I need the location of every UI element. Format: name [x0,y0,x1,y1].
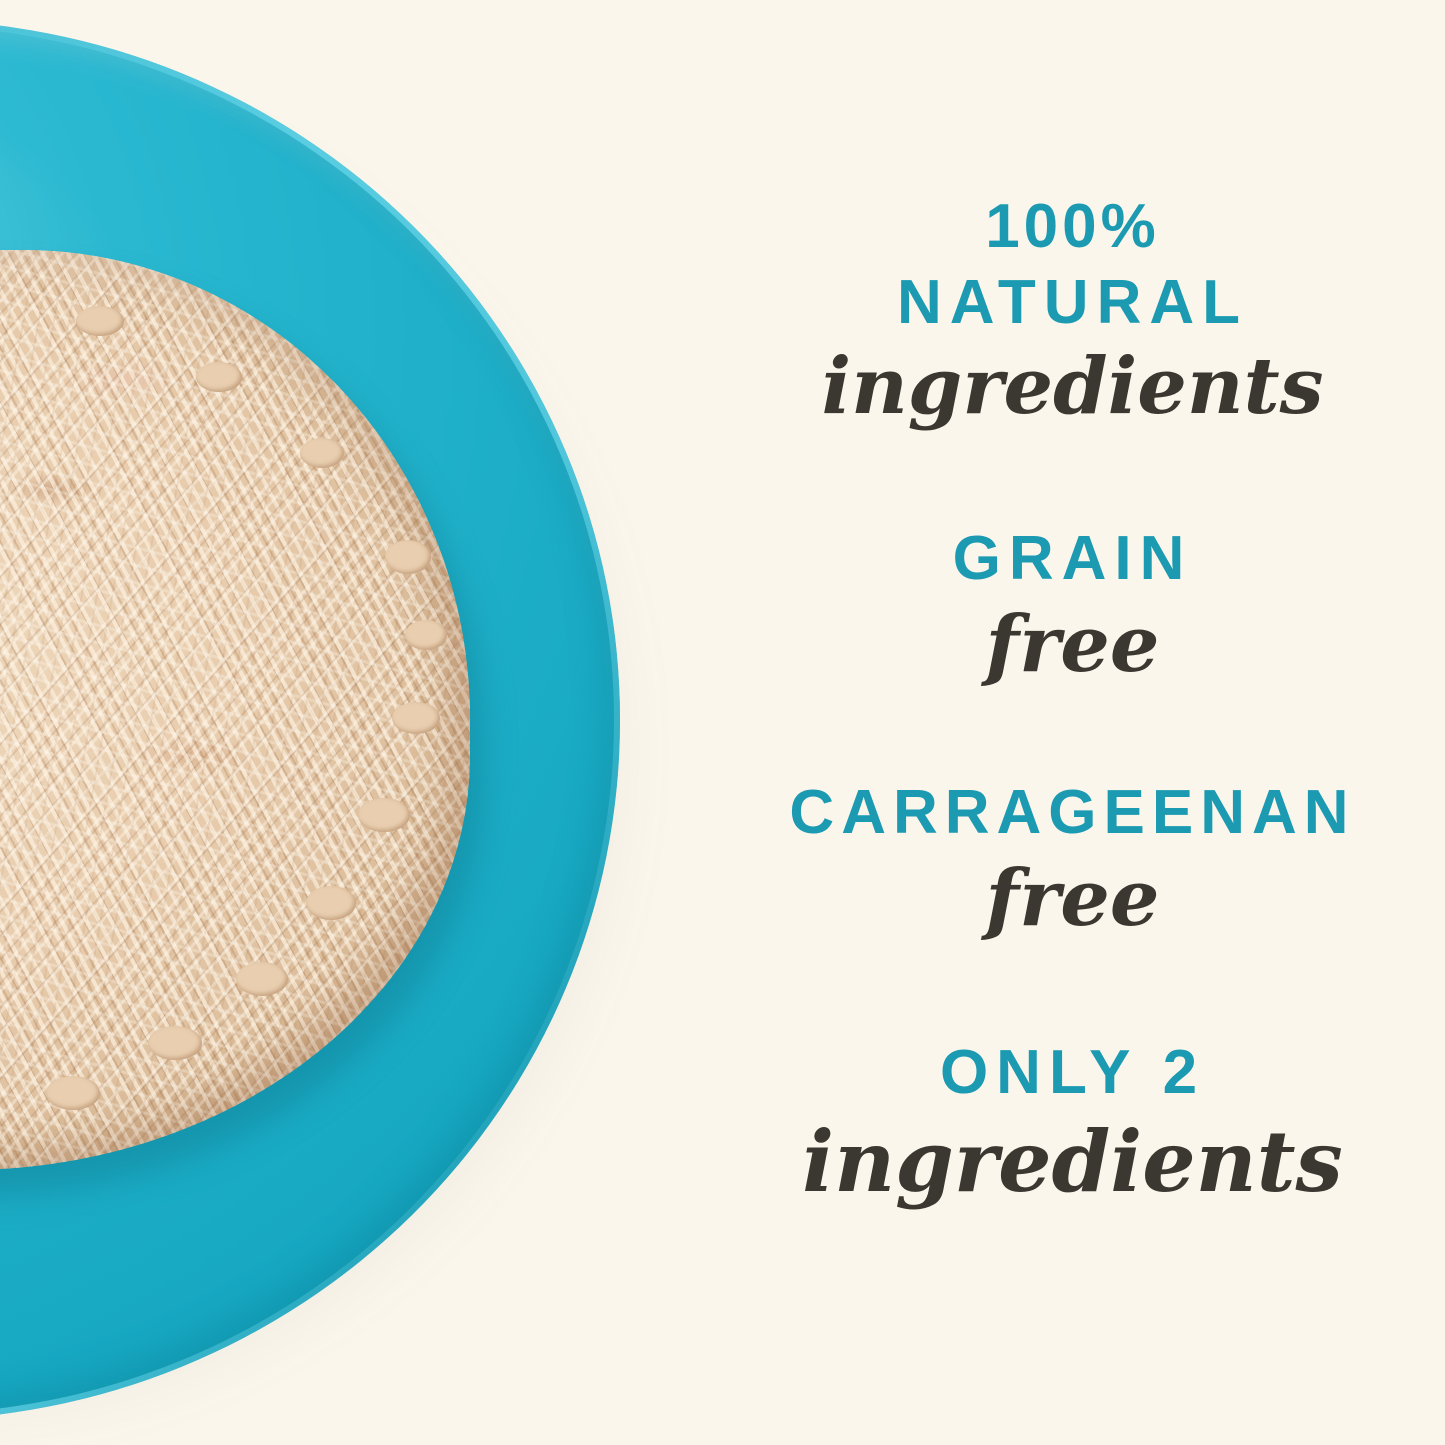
claim-natural-script-line: ingredients [700,348,1445,426]
claim-only2-cap-line: ONLY 2 [700,1042,1445,1104]
tuna-edge-nub [300,438,344,468]
claim-natural-cap-line-2: NATURAL [700,272,1445,334]
tuna-edge-nub [236,962,288,996]
tuna-edge-nub [46,1076,100,1110]
claim-only2-script-line: ingredients [700,1120,1445,1204]
tuna-edge-nub [405,620,447,650]
claim-grain-script-line: free [700,606,1445,684]
claim-carrageenan-script-line: free [700,860,1445,938]
claim-grain-free: GRAIN free [700,528,1445,684]
claim-natural-ingredients: 100% NATURAL ingredients [700,196,1445,426]
tuna-edge-nub [76,306,124,336]
tuna-edge-nub [385,540,431,574]
tuna-edge-nub [358,798,410,832]
tuna-edge-nub [392,702,440,734]
claim-only-2-ingredients: ONLY 2 ingredients [700,1042,1445,1204]
tuna-edge-nub [148,1026,202,1060]
claim-carrageenan-free: CARRAGEENAN free [700,782,1445,938]
claim-carrageenan-cap-line: CARRAGEENAN [700,782,1445,844]
claim-natural-cap-line-1: 100% [700,196,1445,258]
product-claims-graphic: 100% NATURAL ingredients GRAIN free CARR… [0,0,1445,1445]
food-photograph [0,0,700,1445]
tuna-edge-nub [196,362,242,392]
shredded-tuna-portion [0,250,470,1170]
claim-grain-cap-line: GRAIN [700,528,1445,590]
tuna-edge-nub [306,886,356,920]
claims-column: 100% NATURAL ingredients GRAIN free CARR… [700,0,1445,1445]
